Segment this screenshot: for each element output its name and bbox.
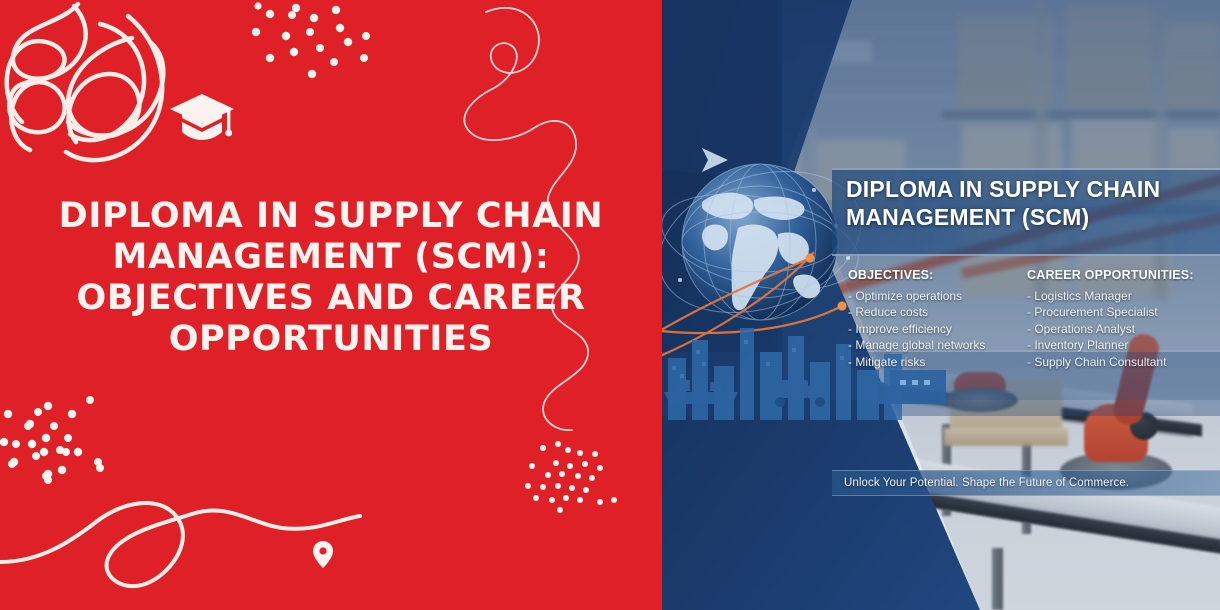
careers-item: - Operations Analyst: [1027, 321, 1220, 337]
careers-item: - Inventory Planner: [1027, 337, 1220, 353]
dot-cluster-bottom-center: [525, 441, 617, 513]
graduation-cap-icon: [168, 88, 236, 146]
careers-heading: CAREER OPPORTUNITIES:: [1027, 268, 1220, 282]
careers-item: - Procurement Specialist: [1027, 304, 1220, 320]
factory-icon: [858, 370, 946, 404]
objectives-heading: OBJECTIVES:: [848, 268, 1028, 282]
winding-path: [0, 503, 360, 586]
tagline-text: Unlock Your Potential. Shape the Future …: [832, 477, 1129, 489]
objectives-item: - Manage global networks: [848, 337, 1028, 353]
dot-cluster-bottom-left: [0, 396, 104, 484]
tagline-band: Unlock Your Potential. Shape the Future …: [832, 470, 1220, 496]
objectives-column: OBJECTIVES: - Optimize operations - Redu…: [848, 268, 1028, 370]
right-image-panel: Diploma in Supply Chain Management (SCM)…: [662, 0, 1220, 610]
objectives-item: - Mitigate risks: [848, 354, 1028, 370]
objectives-list: - Optimize operations - Reduce costs - I…: [848, 288, 1028, 370]
location-pin-icon: [313, 541, 333, 568]
page-title: Diploma in Supply Chain Management (SCM)…: [0, 196, 662, 360]
panel-title: Diploma in Supply Chain Management (SCM): [846, 176, 1218, 231]
careers-item: - Supply Chain Consultant: [1027, 354, 1220, 370]
objectives-item: - Optimize operations: [848, 288, 1028, 304]
careers-list: - Logistics Manager - Procurement Specia…: [1027, 288, 1220, 370]
objectives-item: - Reduce costs: [848, 304, 1028, 320]
promo-banner: Diploma in Supply Chain Management (SCM)…: [0, 0, 1220, 610]
cargo-ship-icon: [664, 392, 738, 404]
careers-item: - Logistics Manager: [1027, 288, 1220, 304]
scribble-lines: [7, 4, 164, 160]
left-red-panel: Diploma in Supply Chain Management (SCM)…: [0, 0, 662, 610]
dot-cluster-top: [252, 2, 370, 78]
objectives-item: - Improve efficiency: [848, 321, 1028, 337]
careers-column: CAREER OPPORTUNITIES: - Logistics Manage…: [1027, 268, 1220, 370]
truck-icon: [766, 380, 808, 398]
